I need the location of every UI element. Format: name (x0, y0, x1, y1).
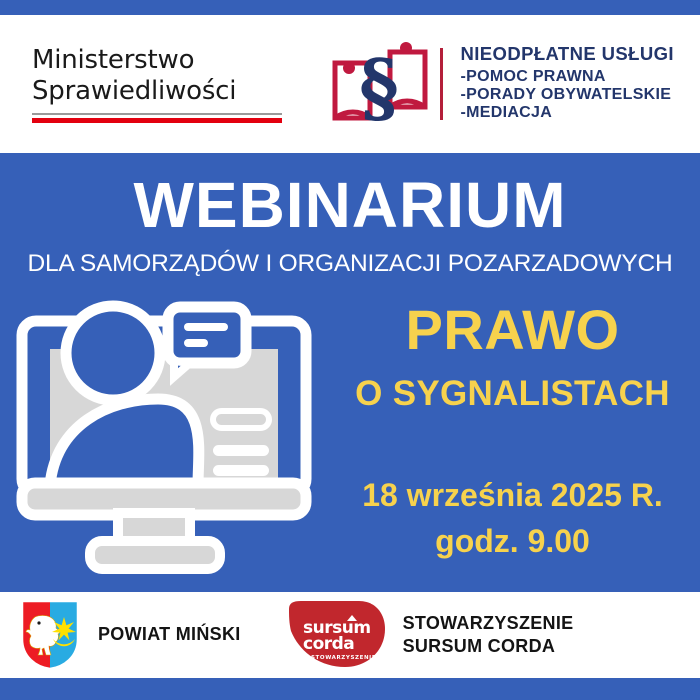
npp-title: NIEODPŁATNE USŁUGI (461, 45, 674, 64)
ministry-grey-rule (32, 113, 282, 115)
topic-line-1: PRAWO (325, 301, 700, 360)
header-band: Ministerstwo Sprawiedliwości (0, 15, 700, 153)
npp-divider (440, 48, 443, 120)
event-date: 18 września 2025 R. (325, 475, 700, 515)
powiat-minski-crest-icon (20, 599, 80, 671)
npp-item-2: -MEDIACJA (461, 105, 674, 121)
page-title: WEBINARIUM (0, 168, 700, 242)
topic-line-2: O SYGNALISTACH (325, 376, 700, 413)
top-blue-bar (0, 0, 700, 15)
ministry-name-line2: Sprawiedliwości (32, 76, 330, 107)
partner-powiat-minski: POWIAT MIŃSKI (20, 599, 241, 671)
ministry-name-line1: Ministerstwo (32, 45, 330, 76)
event-time: godz. 9.00 (325, 521, 700, 561)
partner-sursum-corda-line1: STOWARZYSZENIE (403, 612, 574, 635)
partner-powiat-minski-line1: POWIAT MIŃSKI (98, 624, 241, 644)
svg-text:STOWARZYSZENIE: STOWARZYSZENIE (311, 655, 376, 661)
partner-sursum-corda: sursum corda STOWARZYSZENIE STOWARZYSZEN… (289, 599, 574, 671)
npp-logo: § NIEODPŁATNE USŁUGI -POMOC PRAWNA -PORA… (330, 38, 674, 130)
sursum-corda-logo-icon: sursum corda STOWARZYSZENIE (289, 599, 385, 671)
npp-item-0: -POMOC PRAWNA (461, 69, 674, 85)
partner-powiat-minski-label: POWIAT MIŃSKI (98, 623, 241, 646)
npp-item-1: -PORADY OBYWATELSKIE (461, 87, 674, 103)
partner-sursum-corda-line2: SURSUM CORDA (403, 635, 574, 658)
partner-sursum-corda-label: STOWARZYSZENIE SURSUM CORDA (403, 612, 574, 659)
bottom-blue-bar (0, 678, 700, 700)
webinar-monitor-icon (8, 293, 320, 583)
svg-text:§: § (359, 43, 399, 130)
ministry-red-rule (32, 118, 282, 123)
npp-text-block: NIEODPŁATNE USŁUGI -POMOC PRAWNA -PORADY… (461, 45, 674, 123)
main-content: WEBINARIUM DLA SAMORZĄDÓW I ORGANIZACJI … (0, 153, 700, 592)
footer-band: POWIAT MIŃSKI sursum corda STOWARZYSZENI… (0, 592, 700, 678)
open-book-paragraph-icon: § (330, 38, 430, 130)
topic-block: PRAWO O SYGNALISTACH 18 września 2025 R.… (325, 301, 700, 561)
svg-text:corda: corda (303, 634, 354, 654)
poster: Ministerstwo Sprawiedliwości (0, 0, 700, 700)
ministry-logo: Ministerstwo Sprawiedliwości (0, 45, 330, 123)
ministry-rule-group (32, 113, 282, 123)
page-subtitle: DLA SAMORZĄDÓW I ORGANIZACJI POZARZADOWY… (0, 250, 700, 278)
